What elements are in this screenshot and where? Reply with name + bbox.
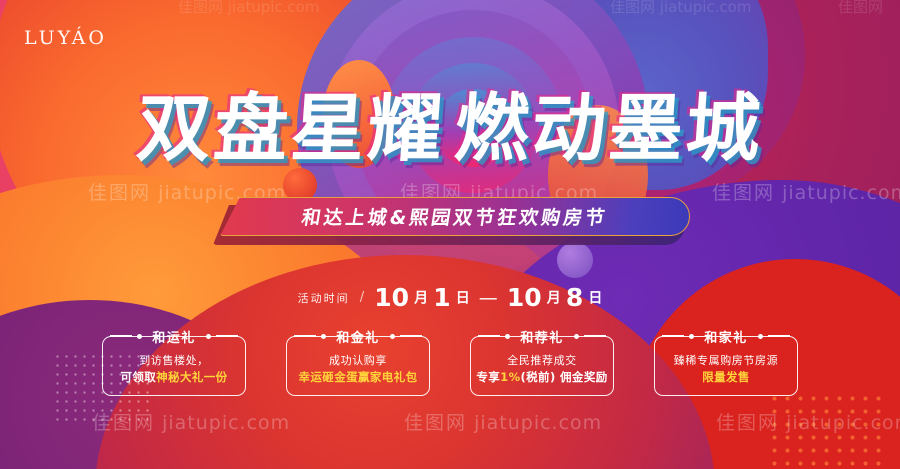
date-start-day-char: 日 [456,291,470,307]
card-dot-left [137,334,142,339]
card-body: 到访售楼处， 可领取神秘大礼一份 [90,352,258,387]
date-start-day: 1 [433,283,450,312]
date-start-month-char: 月 [414,291,428,307]
watermark-cn: 佳图网 [92,412,155,434]
headline-part-2: 燃动墨城 [453,92,766,166]
brand-logo: LUYÁO [24,27,107,49]
card-header: 和家礼 [642,322,810,350]
watermark-en: jiatupic.com [786,412,900,434]
watermark-en: jiatupic.com [162,412,290,434]
card-line-1: 成功认购享 [274,352,442,369]
card-dot-left [505,334,510,339]
watermark-cn: 佳图网 [178,0,223,16]
card-rule-right [216,335,238,336]
card-line-2: 可领取神秘大礼一份 [90,369,258,387]
card-line-2-highlight: 限量发售 [702,370,750,384]
watermark-top-3: 佳图网 [838,0,883,17]
date-end-day: 8 [566,283,583,312]
date-end-month-char: 月 [547,291,561,307]
event-date-line: 活动时间 / 10 月 1 日 — 10 月 8 日 [0,283,900,312]
card-line-2-highlight: 1% [500,370,520,384]
watermark-top-2: 佳图网 jiatupic.com [610,0,751,17]
watermark-en: jiatupic.com [660,0,752,16]
watermark-bottom-right: 佳图网 jiatupic.com [716,408,900,435]
card-dot-right [574,334,579,339]
card-rule-right [768,335,790,336]
watermark-en: jiatupic.com [228,0,320,16]
card-rule-left [294,335,316,336]
benefit-card[interactable]: 和家礼 臻稀专属购房节房源 限量发售 [642,322,810,396]
card-title: 和家礼 [699,327,753,346]
watermark-cn: 佳图网 [88,182,151,204]
watermark-cn: 佳图网 [712,182,775,204]
card-line-2: 限量发售 [642,369,810,387]
card-dot-left [321,334,326,339]
watermark-cn: 佳图网 [838,0,883,16]
benefit-card[interactable]: 和荐礼 全民推荐成交 专享1%(税前) 佣金奖励 [458,322,626,396]
card-title: 和荐礼 [515,327,569,346]
card-dot-right [758,334,763,339]
date-label: 活动时间 [298,292,350,305]
card-header: 和荐礼 [458,322,626,350]
date-dash: — [479,287,498,309]
card-line-1: 臻稀专属购房节房源 [642,352,810,369]
card-dot-left [689,334,694,339]
watermark-en: jiatupic.com [474,412,602,434]
card-line-2-plain: 可领取 [120,370,156,384]
card-header: 和金礼 [274,322,442,350]
card-line-1: 到访售楼处， [90,352,258,369]
card-line-2: 专享1%(税前) 佣金奖励 [458,369,626,387]
watermark-en: jiatupic.com [782,182,900,204]
subtitle-banner: 和达上城&熙园双节狂欢购房节 [220,197,690,236]
benefit-card-list: 和运礼 到访售楼处， 可领取神秘大礼一份 和金礼 成功认购享 幸运砸金蛋赢家电礼… [0,322,900,396]
card-title: 和运礼 [147,327,201,346]
card-line-2-plain: 专享 [476,370,500,384]
card-header: 和运礼 [90,322,258,350]
card-body: 全民推荐成交 专享1%(税前) 佣金奖励 [458,352,626,387]
card-body: 臻稀专属购房节房源 限量发售 [642,352,810,387]
card-rule-left [662,335,684,336]
card-title: 和金礼 [331,327,385,346]
card-rule-right [584,335,606,336]
card-rule-left [110,335,132,336]
card-line-2-highlight: 幸运砸金蛋赢家电礼包 [299,370,418,384]
card-dot-right [206,334,211,339]
watermark-cn: 佳图网 [716,412,779,434]
ball-accent-orange [283,168,317,202]
headline-part-1: 双盘星耀 [134,92,447,166]
card-line-1: 全民推荐成交 [458,352,626,369]
watermark-bottom-left: 佳图网 jiatupic.com [92,408,290,435]
watermark-bottom-center: 佳图网 jiatupic.com [404,408,602,435]
date-end-day-char: 日 [588,291,602,307]
card-dot-right [390,334,395,339]
ball-accent-purple [557,242,593,278]
date-end-month: 10 [507,283,542,312]
card-rule-right [400,335,422,336]
date-start-month: 10 [374,283,409,312]
card-rule-left [478,335,500,336]
benefit-card[interactable]: 和金礼 成功认购享 幸运砸金蛋赢家电礼包 [274,322,442,396]
promo-poster: 佳图网 jiatupic.com 佳图网 jiatupic.com 佳图网 佳图… [0,0,900,469]
headline-wrapper: 双盘星耀 燃动墨城 [0,92,900,166]
subtitle-text: 和达上城&熙园双节狂欢购房节 [300,203,610,230]
watermark-cn: 佳图网 [610,0,655,16]
watermark-cn: 佳图网 [404,412,467,434]
card-line-2-tail: (税前) 佣金奖励 [521,370,608,384]
card-line-2-highlight: 神秘大礼一份 [156,370,227,384]
date-separator: / [360,290,364,305]
benefit-card[interactable]: 和运礼 到访售楼处， 可领取神秘大礼一份 [90,322,258,396]
watermark-mid-right: 佳图网 jiatupic.com [712,178,900,205]
card-line-2: 幸运砸金蛋赢家电礼包 [274,369,442,387]
card-body: 成功认购享 幸运砸金蛋赢家电礼包 [274,352,442,387]
watermark-top-1: 佳图网 jiatupic.com [178,0,319,17]
